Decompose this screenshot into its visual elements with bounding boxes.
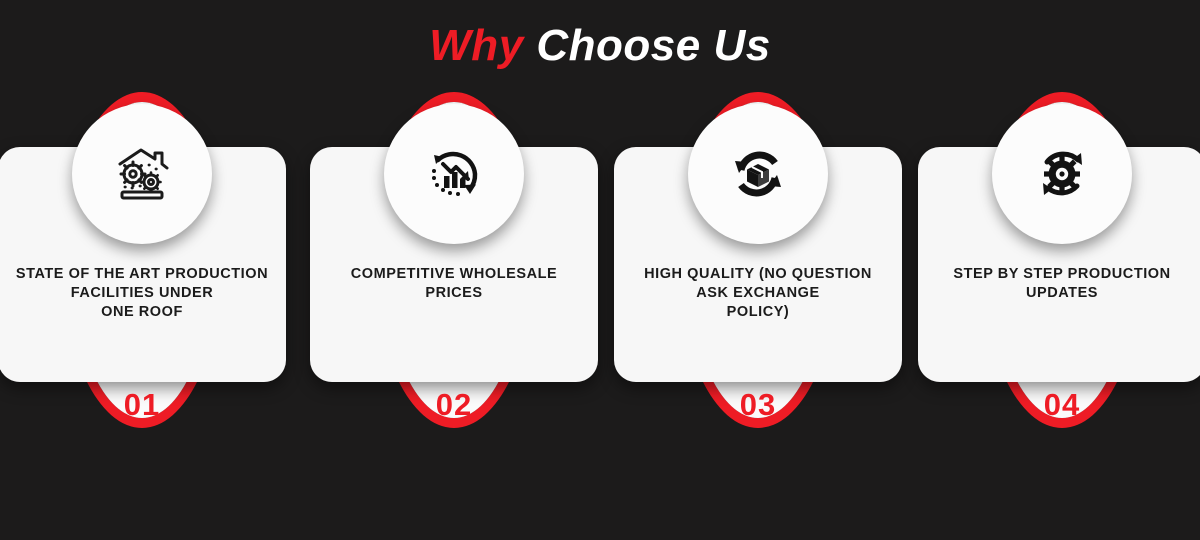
page-title-accent: Why — [429, 21, 523, 70]
card-number: 02 — [384, 387, 524, 423]
card-number: 04 — [992, 387, 1132, 423]
card-label: STEP BY STEP PRODUCTION UPDATES — [932, 265, 1192, 303]
declining-chart-arrow-icon — [418, 138, 490, 210]
feature-card-4[interactable]: STEP BY STEP PRODUCTION UPDATES — [918, 84, 1200, 540]
factory-gears-icon — [106, 138, 178, 210]
header: Why Choose Us — [0, 0, 1200, 84]
card-icon-circle — [384, 104, 524, 244]
card-label: HIGH QUALITY (NO QUESTION ASK EXCHANGE P… — [628, 265, 888, 322]
card-label: COMPETITIVE WHOLESALE PRICES — [324, 265, 584, 303]
page-title: Why Choose Us — [429, 21, 770, 71]
feature-card-1[interactable]: STATE OF THE ART PRODUCTION FACILITIES U… — [0, 84, 286, 540]
card-number: 03 — [688, 387, 828, 423]
feature-card-3[interactable]: HIGH QUALITY (NO QUESTION ASK EXCHANGE P… — [614, 84, 902, 540]
gear-refresh-cycle-icon — [1026, 138, 1098, 210]
card-number: 01 — [72, 387, 212, 423]
feature-card-2[interactable]: COMPETITIVE WHOLESALE PRICES — [310, 84, 598, 540]
card-label: STATE OF THE ART PRODUCTION FACILITIES U… — [12, 265, 272, 322]
card-icon-circle — [992, 104, 1132, 244]
feature-card-row: STATE OF THE ART PRODUCTION FACILITIES U… — [0, 84, 1200, 540]
card-icon-circle — [72, 104, 212, 244]
card-icon-circle — [688, 104, 828, 244]
page-title-plain: Choose Us — [524, 21, 771, 70]
box-exchange-arrows-icon — [722, 138, 794, 210]
